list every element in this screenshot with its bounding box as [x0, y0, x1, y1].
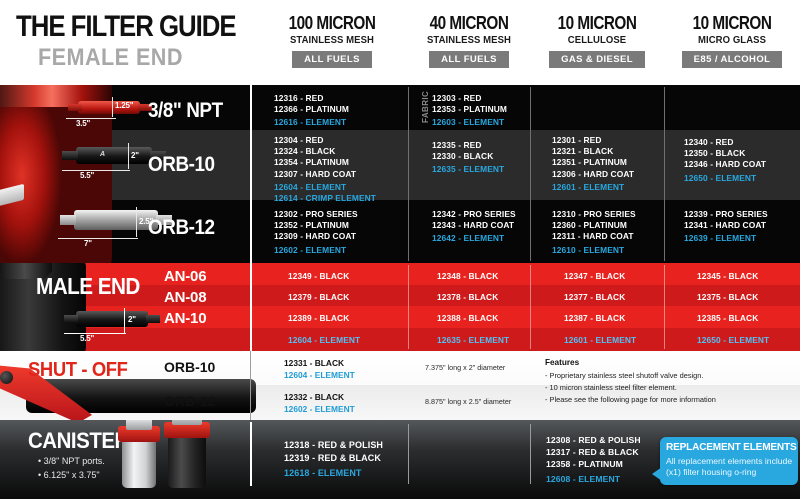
dim-shutoff-orb12: 8.875" long x 2.5" diameter — [425, 397, 511, 406]
cell-orb10-40micron: 12335 - RED 12330 - BLACK 12635 - ELEMEN… — [432, 140, 504, 176]
label-column-divider — [250, 263, 252, 351]
cell-shutoff-orb10: 12331 - BLACK 12604 - ELEMENT — [284, 358, 355, 381]
cell-orb12-10micron-microglass: 12339 - PRO SERIES 12341 - HARD COAT 126… — [684, 209, 768, 245]
orb10-diameter-dim: 2" — [131, 151, 139, 160]
male-length-dim: 5.5" — [80, 334, 94, 343]
column-divider-1 — [408, 87, 409, 261]
feature-line-2: - 10 micron stainless steel filter eleme… — [545, 383, 677, 394]
filter-guide-page: THE FILTER GUIDE FEMALE END 100 MICRON S… — [0, 0, 800, 499]
cell-an06-10micron-cellulose: 12347 - BLACK — [564, 271, 625, 282]
cell-an08-100micron: 12379 - BLACK — [288, 292, 349, 303]
cell-an10-40micron: 12388 - BLACK — [437, 313, 498, 324]
row-label-orb10: ORB-10 — [148, 153, 215, 177]
fuel-badge: GAS & DIESEL — [549, 51, 645, 68]
female-end-subtitle: FEMALE END — [38, 44, 183, 72]
column-divider-3 — [664, 87, 665, 261]
column-header-1: 40 MICRON STAINLESS MESH ALL FUELS — [408, 14, 530, 68]
row-label-an08: AN-08 — [164, 289, 206, 306]
cell-an06-10micron-microglass: 12345 - BLACK — [697, 271, 758, 282]
cell-npt-40micron: 12303 - RED 12353 - PLATINUM 12603 - ELE… — [432, 93, 507, 129]
orb12-length-dim: 7" — [84, 239, 92, 248]
column-header-3: 10 MICRON MICRO GLASS E85 / ALCOHOL — [664, 14, 800, 68]
column-header-2: 10 MICRON CELLULOSE GAS & DIESEL — [530, 14, 664, 68]
column-divider-2 — [530, 87, 531, 261]
column-divider-2 — [530, 424, 531, 484]
male-filter-thumbnail — [62, 307, 172, 333]
features-title: Features — [545, 358, 579, 367]
row-label-an06: AN-06 — [164, 268, 206, 285]
element-an-10micron-cellulose: 12601 - ELEMENT — [564, 335, 636, 345]
feature-line-1: - Proprietary stainless steel shutoff va… — [545, 371, 703, 382]
cell-shutoff-orb12: 12332 - BLACK 12602 - ELEMENT — [284, 392, 355, 415]
column-header-0: 100 MICRON STAINLESS MESH ALL FUELS — [256, 14, 408, 68]
cell-an10-10micron-cellulose: 12387 - BLACK — [564, 313, 625, 324]
label-column-divider — [250, 85, 252, 263]
replacement-elements-title: REPLACEMENT ELEMENTS — [666, 442, 790, 453]
fuel-badge: ALL FUELS — [429, 51, 509, 68]
canister-bullet-2: • 6.125" x 3.75" — [38, 470, 100, 480]
cell-canister-100micron: 12318 - RED & POLISH 12319 - RED & BLACK… — [284, 439, 383, 480]
cell-an08-40micron: 12378 - BLACK — [437, 292, 498, 303]
fuel-badge: ALL FUELS — [292, 51, 372, 68]
cell-an06-40micron: 12348 - BLACK — [437, 271, 498, 282]
cell-an06-100micron: 12349 - BLACK — [288, 271, 349, 282]
row-label-shutoff-orb10: ORB-10 — [164, 359, 215, 375]
npt-length-dim: 3.5" — [76, 119, 90, 128]
orb10-length-dim: 5.5" — [80, 171, 94, 180]
canister-bullet-1: • 3/8" NPT ports. — [38, 456, 105, 466]
row-label-shutoff-orb12: ORB-12 — [164, 393, 215, 409]
section-label-shut-off: SHUT - OFF — [28, 359, 128, 382]
cell-an08-10micron-microglass: 12375 - BLACK — [697, 292, 758, 303]
cell-orb12-40micron: 12342 - PRO SERIES 12343 - HARD COAT 126… — [432, 209, 516, 245]
row-label-orb12: ORB-12 — [148, 216, 215, 240]
page-title: THE FILTER GUIDE — [16, 10, 236, 44]
column-divider-1 — [408, 265, 409, 349]
section-label-male-end: MALE END — [36, 273, 140, 300]
label-column-divider — [250, 351, 251, 420]
male-diameter-dim: 2" — [128, 315, 136, 324]
cell-orb12-10micron-cellulose: 12310 - PRO SERIES 12360 - PLATINUM 1231… — [552, 209, 636, 256]
fabric-tag: FABRIC — [421, 93, 430, 123]
cell-npt-100micron: 12316 - RED 12366 - PLATINUM 12616 - ELE… — [274, 93, 349, 129]
cell-orb12-100micron: 12302 - PRO SERIES 12352 - PLATINUM 1230… — [274, 209, 358, 256]
cell-orb10-100micron: 12304 - RED 12324 - BLACK 12354 - PLATIN… — [274, 135, 376, 204]
cell-an10-100micron: 12389 - BLACK — [288, 313, 349, 324]
replacement-elements-subtitle: All replacement elements include (x1) fi… — [666, 456, 796, 479]
column-divider-3 — [664, 265, 665, 349]
label-column-divider — [250, 422, 252, 486]
female-end-section: 3.5" 1.25" 3/8" NPT 12316 - RED 12366 - … — [0, 85, 800, 263]
cell-an10-10micron-microglass: 12385 - BLACK — [697, 313, 758, 324]
dim-shutoff-orb10: 7.375" long x 2" diameter — [425, 363, 505, 372]
replacement-elements-callout: REPLACEMENT ELEMENTS All replacement ele… — [660, 437, 798, 485]
shut-off-section: SHUT - OFF ORB-10 ORB-12 12331 - BLACK 1… — [0, 351, 800, 420]
page-header: THE FILTER GUIDE FEMALE END 100 MICRON S… — [0, 0, 800, 85]
column-divider-2 — [530, 265, 531, 349]
cell-orb10-10micron-microglass: 12340 - RED 12350 - BLACK 12346 - HARD C… — [684, 137, 766, 184]
male-end-section: MALE END 5.5" 2" AN-06 AN-08 AN-10 12349… — [0, 263, 800, 351]
element-an-10micron-microglass: 12650 - ELEMENT — [697, 335, 769, 345]
element-an-40micron: 12635 - ELEMENT — [437, 335, 509, 345]
feature-line-3: - Please see the following page for more… — [545, 395, 716, 406]
section-label-canister: CANISTER — [28, 428, 129, 454]
element-an-100micron: 12604 - ELEMENT — [288, 335, 360, 345]
row-label-npt: 3/8" NPT — [148, 99, 223, 123]
npt-diameter-dim: 1.25" — [115, 101, 133, 110]
cell-an08-10micron-cellulose: 12377 - BLACK — [564, 292, 625, 303]
column-divider-1 — [408, 424, 409, 484]
row-label-an10: AN-10 — [164, 310, 206, 327]
cell-orb10-10micron-cellulose: 12301 - RED 12321 - BLACK 12351 - PLATIN… — [552, 135, 634, 193]
fuel-badge: E85 / ALCOHOL — [682, 51, 783, 68]
cell-canister-10micron-cellulose: 12308 - RED & POLISH 12317 - RED & BLACK… — [546, 434, 641, 485]
